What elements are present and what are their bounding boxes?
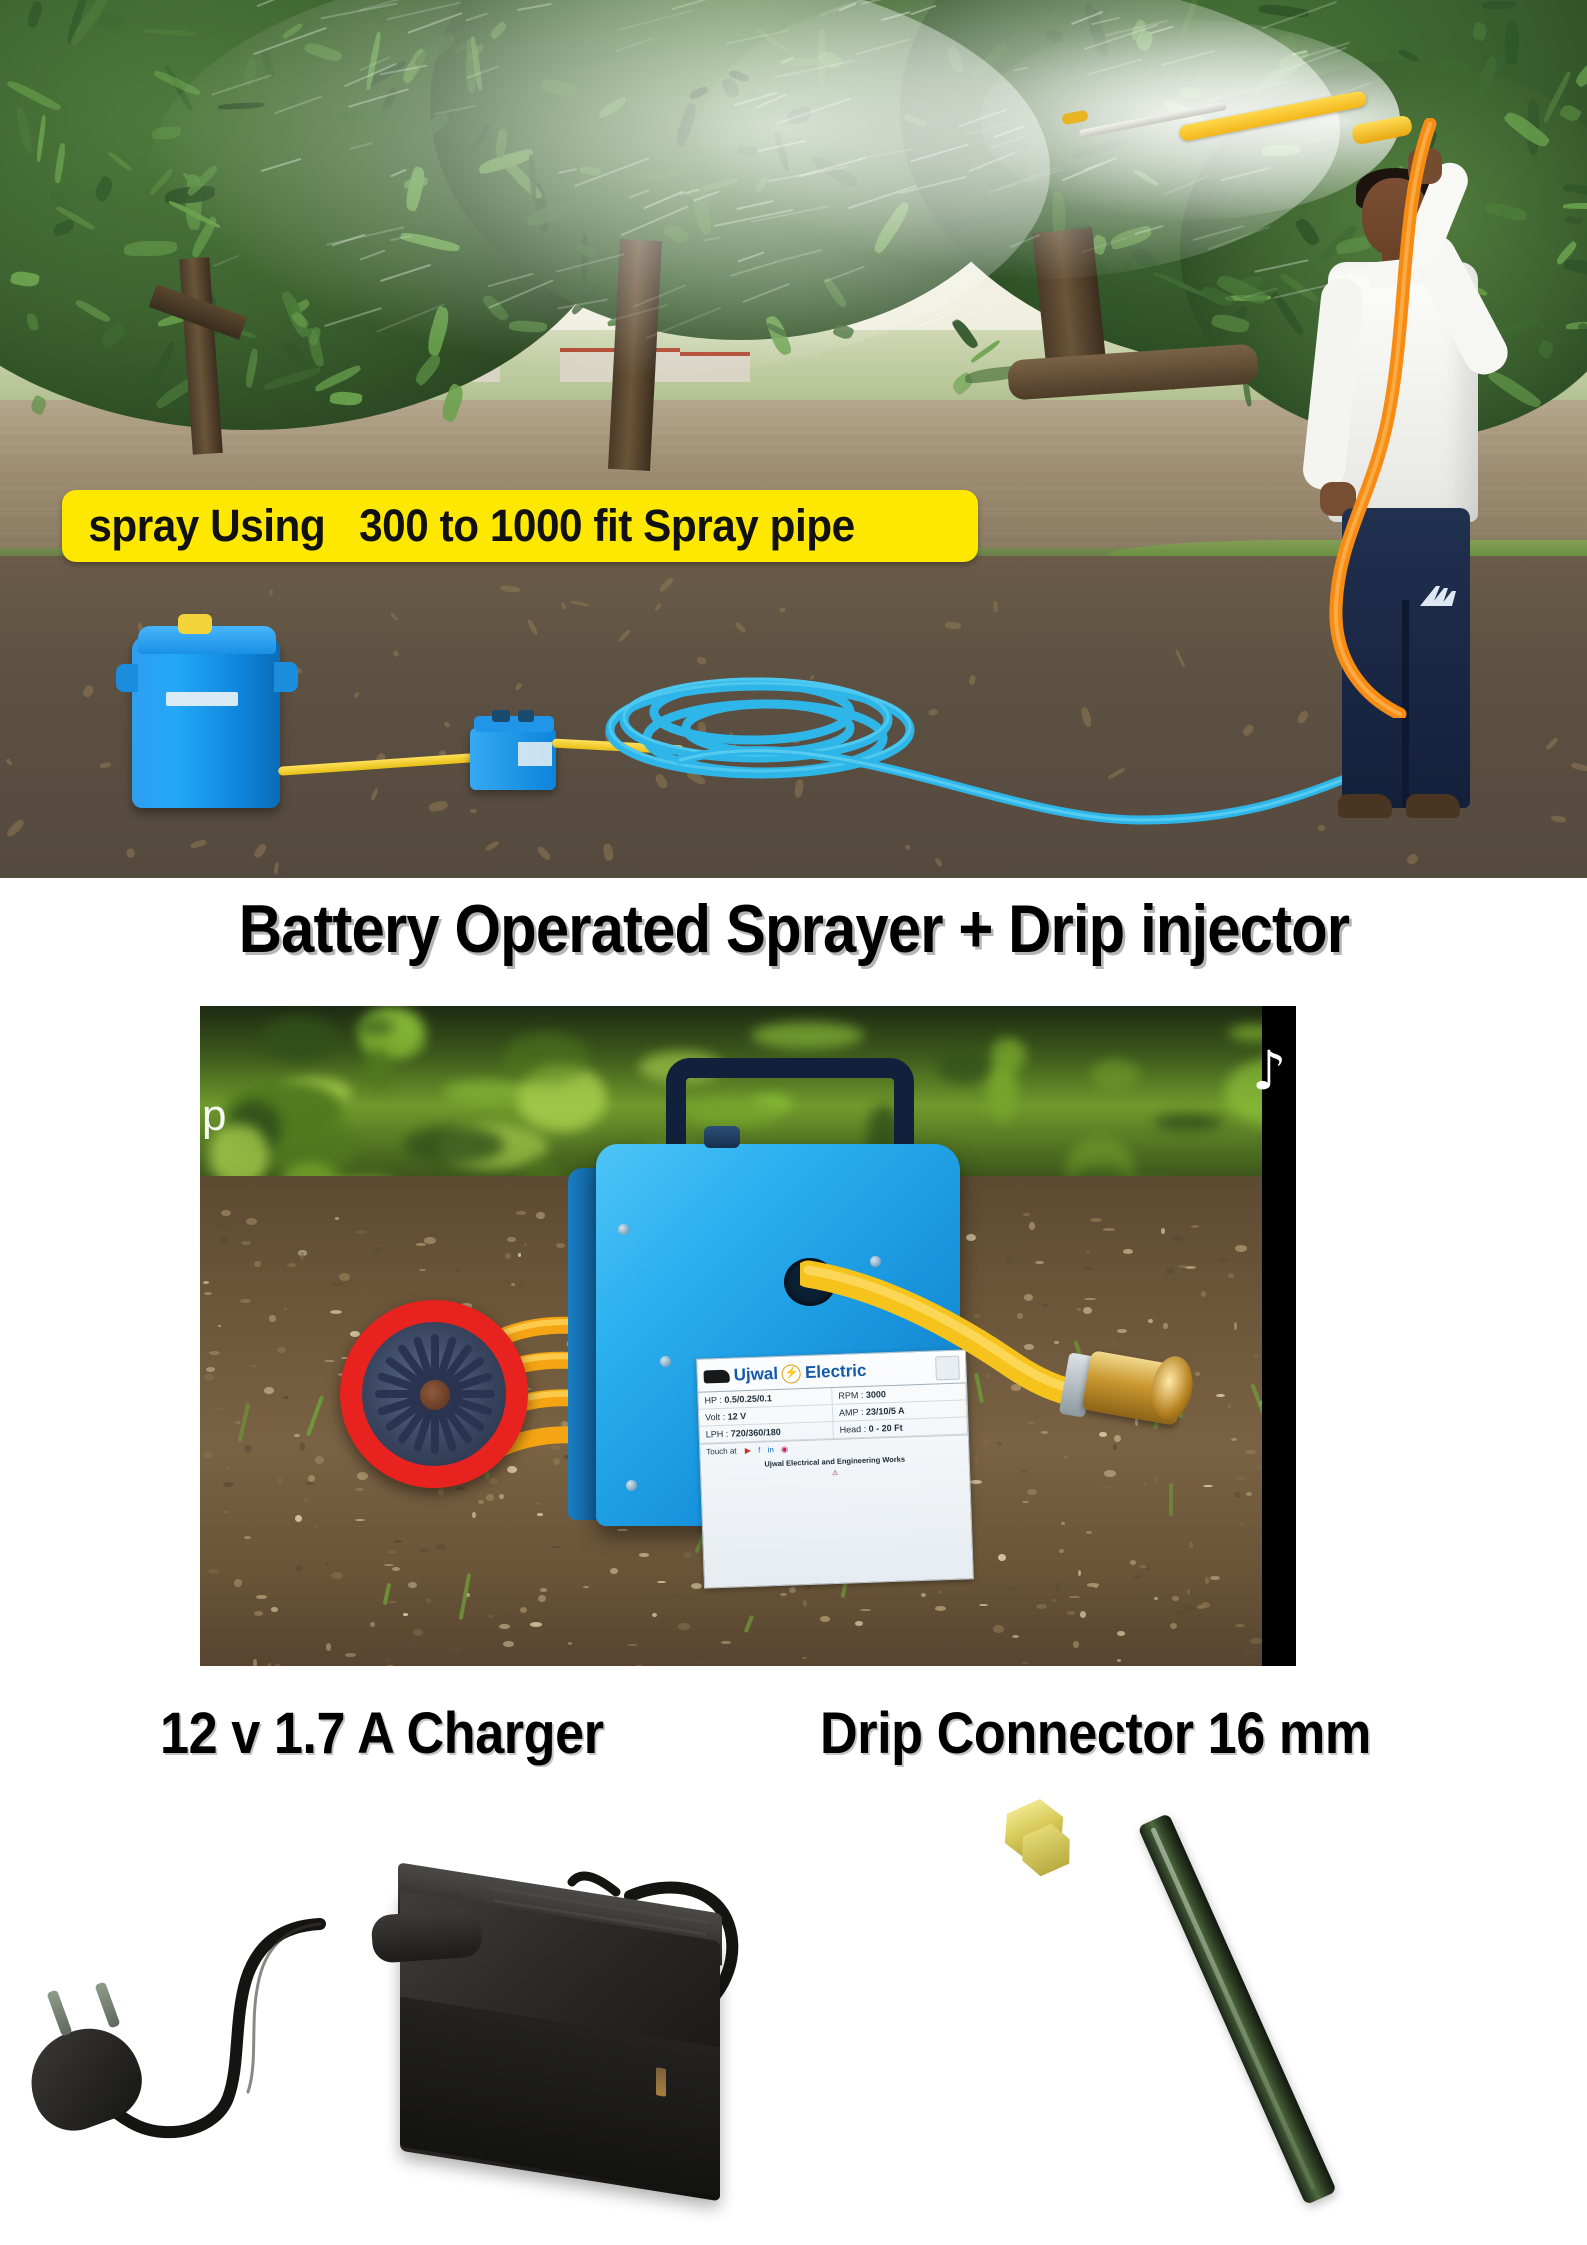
gravel xyxy=(1205,1577,1210,1584)
gravel xyxy=(1184,1605,1195,1612)
gravel xyxy=(1254,1464,1262,1470)
transport-wheel xyxy=(340,1300,528,1488)
charger-image xyxy=(20,1830,780,2230)
gravel xyxy=(518,1253,522,1257)
gravel xyxy=(507,1237,515,1242)
gravel xyxy=(451,1648,462,1654)
gravel xyxy=(536,1212,545,1219)
gravel xyxy=(438,1488,444,1495)
foliage-blob xyxy=(443,1080,527,1102)
gravel xyxy=(388,1550,397,1553)
gravel xyxy=(300,1252,305,1259)
pump-label xyxy=(518,742,552,766)
spec-label: LPH : xyxy=(706,1429,729,1440)
gravel xyxy=(1201,1602,1210,1608)
spec-value: 12 V xyxy=(725,1411,746,1422)
gravel xyxy=(435,1544,446,1550)
gravel xyxy=(406,1639,416,1647)
wheel-hub-disc xyxy=(362,1322,506,1466)
gravel xyxy=(820,1616,830,1622)
gravel xyxy=(982,1438,988,1446)
gravel xyxy=(1117,1659,1121,1662)
gravel xyxy=(388,1601,397,1603)
gravel xyxy=(314,1525,318,1528)
debris-bit xyxy=(269,589,273,596)
gravel xyxy=(1250,1638,1261,1643)
lion-logo-icon xyxy=(703,1369,729,1383)
gravel xyxy=(802,1657,807,1659)
gravel xyxy=(1090,1218,1102,1222)
gravel xyxy=(520,1607,527,1613)
gravel xyxy=(499,1494,504,1499)
gravel xyxy=(505,1253,511,1259)
gravel xyxy=(1172,1596,1179,1601)
foliage-blob xyxy=(938,1051,987,1084)
foliage-blob xyxy=(1090,1059,1140,1089)
gravel xyxy=(486,1494,493,1501)
tube-highlight xyxy=(1150,1827,1316,2191)
gravel xyxy=(208,1569,219,1574)
facebook-icon: f xyxy=(758,1446,761,1455)
spec-value: 0.5/0.25/0.1 xyxy=(722,1393,772,1405)
gravel xyxy=(1228,1273,1235,1278)
gravel xyxy=(860,1609,871,1612)
gravel xyxy=(275,1664,280,1666)
gravel xyxy=(935,1606,946,1611)
youtube-icon: ▶ xyxy=(745,1446,751,1455)
gravel xyxy=(503,1641,513,1647)
spray-pipe-banner: spray Using 300 to 1000 fit Spray pipe xyxy=(62,490,978,562)
weed xyxy=(1169,1483,1173,1516)
gravel xyxy=(518,1284,523,1287)
tank-cap xyxy=(178,614,212,634)
gravel xyxy=(204,1374,214,1381)
tank-label xyxy=(166,692,238,706)
product-advertisement-page: spray Using 300 to 1000 fit Spray pipe B… xyxy=(0,0,1587,2245)
gravel xyxy=(1189,1542,1194,1547)
drip-connector-caption: Drip Connector 16 mm xyxy=(820,1700,1371,1767)
gravel xyxy=(345,1653,356,1657)
gravel xyxy=(332,1283,344,1285)
foliage-blob xyxy=(991,1038,1026,1071)
sprayer-photo: Ujwal ⚡ Electric HP : 0.5/0.25/0.1RPM : … xyxy=(200,1006,1262,1666)
gravel xyxy=(1069,1596,1080,1598)
gravel xyxy=(385,1656,390,1663)
foliage-blob xyxy=(1154,1114,1223,1131)
spec-value: 0 - 20 Ft xyxy=(866,1423,903,1434)
debris-bit xyxy=(126,848,135,858)
gravel xyxy=(516,1211,525,1215)
gravel xyxy=(221,1210,230,1217)
gravel xyxy=(264,1387,274,1394)
cable-strain-relief xyxy=(370,1908,483,1964)
gravel xyxy=(217,1224,228,1229)
gravel xyxy=(1185,1266,1196,1269)
gravel xyxy=(1191,1225,1200,1228)
screw xyxy=(626,1480,637,1491)
gravel xyxy=(472,1512,475,1518)
gravel xyxy=(356,1230,367,1233)
gravel xyxy=(1244,1648,1256,1654)
gravel xyxy=(1154,1597,1158,1600)
gravel xyxy=(894,1642,899,1648)
gravel xyxy=(780,1593,787,1596)
gravel xyxy=(1080,1611,1086,1618)
gravel xyxy=(1086,1531,1092,1534)
tank-handle xyxy=(274,662,298,692)
gravel xyxy=(511,1283,515,1286)
foliage-blob xyxy=(751,1022,864,1049)
gravel xyxy=(209,1351,220,1355)
gravel xyxy=(993,1625,1004,1632)
gravel xyxy=(721,1641,731,1644)
gravel xyxy=(938,1590,942,1594)
gravel xyxy=(277,1477,283,1485)
page-title-text: Battery Operated Sprayer + Drip injector xyxy=(238,890,1348,968)
gravel xyxy=(1235,1624,1245,1627)
connector-tube xyxy=(1137,1813,1336,2205)
gravel xyxy=(627,1644,638,1646)
gravel xyxy=(223,1482,234,1487)
gravel xyxy=(244,1445,252,1451)
gravel xyxy=(235,1421,241,1424)
gravel xyxy=(269,1315,275,1322)
gravel xyxy=(300,1443,304,1450)
farm-building xyxy=(680,352,750,382)
gravel xyxy=(1245,1450,1256,1454)
gravel xyxy=(1231,1438,1237,1441)
gravel xyxy=(246,1218,257,1225)
gravel xyxy=(855,1621,863,1626)
spec-label: HP : xyxy=(704,1395,722,1406)
spray-pipe-run xyxy=(670,700,1370,878)
gravel xyxy=(1099,1432,1107,1437)
gravel xyxy=(1094,1584,1098,1587)
gravel xyxy=(244,1536,251,1539)
gravel xyxy=(250,1365,258,1367)
spec-label: Volt : xyxy=(705,1412,725,1423)
gravel xyxy=(335,1217,339,1220)
gravel xyxy=(1055,1583,1061,1591)
screw xyxy=(660,1356,671,1367)
gravel xyxy=(1022,1662,1027,1665)
charge-indicator-led xyxy=(656,2067,666,2097)
gravel xyxy=(683,1552,692,1559)
gravel xyxy=(315,1456,324,1464)
gravel xyxy=(538,1595,546,1602)
drip-connector-image xyxy=(960,1800,1580,2240)
gravel xyxy=(695,1660,703,1664)
gravel xyxy=(678,1623,690,1629)
pump-top xyxy=(474,716,554,732)
shoe xyxy=(1338,794,1392,818)
wheel-axle xyxy=(420,1380,450,1410)
gravel xyxy=(308,1475,315,1482)
gravel xyxy=(1041,1431,1048,1433)
page-title: Battery Operated Sprayer + Drip injector xyxy=(0,890,1587,968)
gravel xyxy=(1170,1623,1177,1629)
gravel xyxy=(241,1241,251,1245)
gravel xyxy=(203,1281,209,1284)
gravel xyxy=(1161,1228,1165,1234)
gravel xyxy=(373,1247,381,1255)
overlay-text-fragment: p xyxy=(202,1094,226,1138)
gravel xyxy=(610,1568,617,1575)
pump-knob xyxy=(492,710,510,722)
filler-cap xyxy=(704,1126,740,1148)
gravel xyxy=(1153,1476,1157,1483)
music-note-icon: ♪ xyxy=(1252,1044,1292,1098)
foliage-blob xyxy=(262,1016,336,1061)
debris-bit xyxy=(779,607,786,613)
gravel xyxy=(1067,1611,1076,1614)
gravel xyxy=(421,1601,427,1605)
gravel xyxy=(1073,1641,1079,1648)
gravel xyxy=(1246,1492,1252,1496)
gravel xyxy=(253,1659,257,1666)
gravel xyxy=(1029,1222,1035,1229)
foliage-blob xyxy=(503,1032,591,1084)
shoe xyxy=(1406,794,1460,818)
brand-name: Ujwal xyxy=(733,1364,778,1386)
gravel xyxy=(403,1613,408,1616)
gravel xyxy=(413,1629,423,1636)
gravel xyxy=(456,1487,465,1490)
chemical-tank xyxy=(132,636,280,808)
gravel xyxy=(505,1614,515,1619)
spec-value: 720/360/180 xyxy=(728,1427,781,1439)
bolt-icon: ⚡ xyxy=(782,1364,802,1384)
foliage-blob xyxy=(404,1126,504,1164)
linkedin-icon: in xyxy=(767,1445,774,1454)
debris-bit xyxy=(470,809,477,813)
gravel xyxy=(803,1600,806,1607)
gravel xyxy=(1021,1470,1027,1473)
gravel xyxy=(1203,1485,1213,1487)
gravel xyxy=(294,1434,300,1437)
gravel xyxy=(256,1595,267,1599)
instagram-icon: ◉ xyxy=(781,1445,788,1454)
charger-caption: 12 v 1.7 A Charger xyxy=(160,1700,604,1767)
accessory-captions: 12 v 1.7 A Charger Drip Connector 16 mm xyxy=(0,1700,1587,1790)
gravel xyxy=(1052,1599,1056,1602)
gravel xyxy=(234,1579,242,1587)
gravel xyxy=(1133,1575,1142,1579)
banner-label: spray Using 300 to 1000 fit Spray pipe xyxy=(62,500,855,552)
social-label: Touch at xyxy=(706,1446,737,1456)
gravel xyxy=(1163,1323,1167,1329)
gravel xyxy=(975,1457,979,1464)
gravel xyxy=(672,1594,677,1597)
gravel xyxy=(206,1367,215,1372)
gravel xyxy=(1023,1213,1030,1216)
gravel xyxy=(652,1613,657,1617)
gravel xyxy=(271,1607,278,1611)
foliage-blob xyxy=(364,1047,393,1091)
gravel xyxy=(254,1611,263,1616)
gravel xyxy=(1172,1235,1184,1241)
gravel xyxy=(536,1502,540,1504)
gravel xyxy=(1027,1489,1037,1494)
gravel xyxy=(254,1261,261,1268)
delivery-hose xyxy=(1280,118,1480,718)
gravel xyxy=(1059,1549,1064,1553)
gravel xyxy=(1117,1631,1125,1636)
sprayer-video-frame: Ujwal ⚡ Electric HP : 0.5/0.25/0.1RPM : … xyxy=(200,1006,1296,1666)
tank-handle xyxy=(116,664,138,692)
pump-knob xyxy=(518,710,534,722)
spec-label: Head : xyxy=(839,1424,866,1435)
gravel xyxy=(1103,1228,1115,1231)
gravel xyxy=(478,1500,485,1503)
gravel xyxy=(355,1488,364,1491)
hero-spraying-photo: spray Using 300 to 1000 fit Spray pipe xyxy=(0,0,1587,878)
screw xyxy=(618,1224,629,1235)
gravel xyxy=(213,1407,222,1410)
gravel xyxy=(419,1549,428,1552)
gravel xyxy=(424,1237,435,1244)
gravel xyxy=(385,1665,396,1666)
gravel xyxy=(970,1480,982,1484)
gravel xyxy=(1234,1322,1237,1329)
gravel xyxy=(639,1553,649,1556)
debris-bit xyxy=(945,621,961,629)
